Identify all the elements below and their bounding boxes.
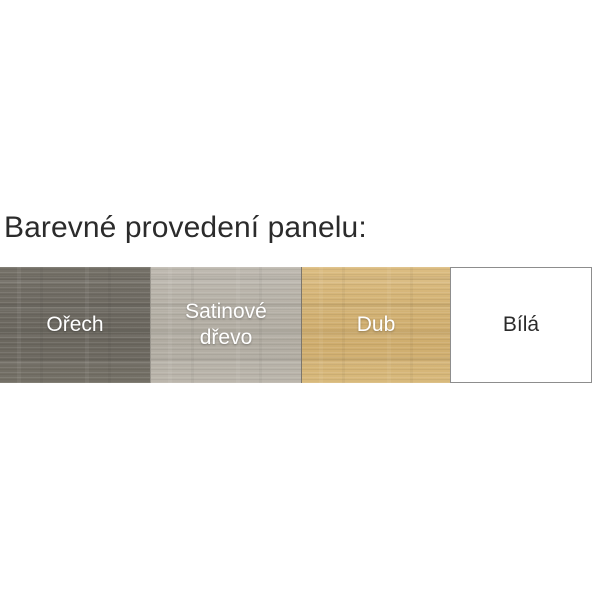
color-swatch-white[interactable]: Bílá bbox=[450, 267, 592, 383]
color-swatch-strip: Ořech Satinové dřevo Dub Bílá bbox=[0, 267, 593, 383]
color-options-panel: Barevné provedení panelu: Ořech Satinové… bbox=[0, 0, 600, 600]
color-swatch-satin-wood[interactable]: Satinové dřevo bbox=[150, 267, 301, 383]
color-swatch-label: Bílá bbox=[499, 312, 543, 338]
color-swatch-label: Dub bbox=[353, 312, 400, 338]
color-swatch-label: Satinové dřevo bbox=[181, 299, 271, 351]
color-swatch-walnut[interactable]: Ořech bbox=[0, 267, 150, 383]
color-swatch-oak[interactable]: Dub bbox=[301, 267, 450, 383]
page-title: Barevné provedení panelu: bbox=[4, 209, 367, 247]
color-swatch-label: Ořech bbox=[42, 312, 107, 338]
